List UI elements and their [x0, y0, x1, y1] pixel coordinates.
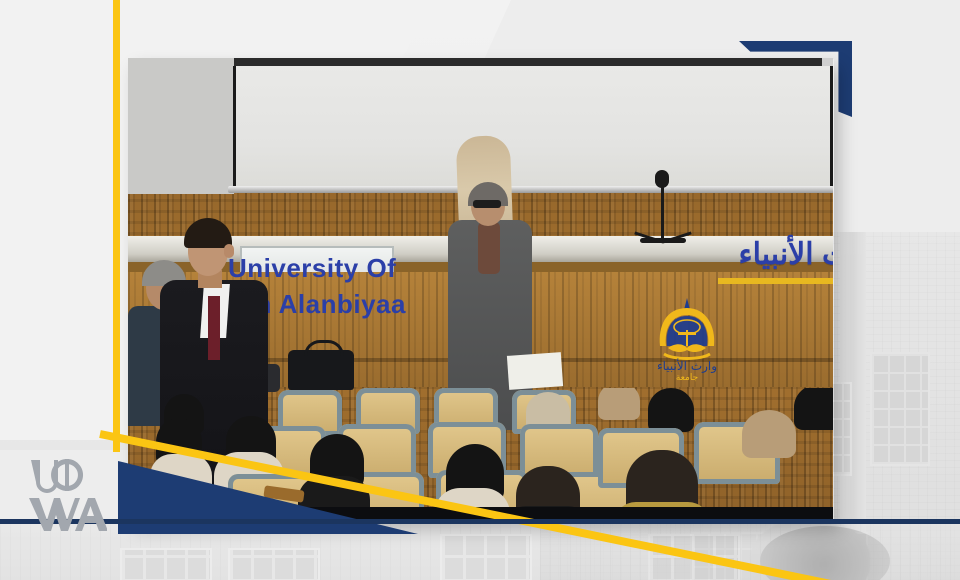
foreground-man-ear [224, 244, 234, 258]
university-emblem: وارث الأنبياء جامعة [654, 296, 720, 382]
briefcase [288, 350, 354, 390]
speaker-scarf [478, 222, 500, 274]
watermark-window [440, 534, 532, 580]
wall-sign-arabic-text: وارث الأنبياء [738, 238, 833, 271]
banner-canvas: University Of rith Alanbiyaa وارث الأنبي… [0, 0, 960, 580]
yellow-accent-vertical [113, 0, 120, 452]
projection-screen-bar [228, 186, 833, 193]
wall-sign-gold-underline [718, 278, 833, 284]
wall-sign-arabic: وارث الأنبياء [688, 226, 833, 290]
navy-bottom-rule [0, 519, 960, 524]
projection-screen [233, 66, 833, 191]
audience-person [598, 388, 640, 420]
audience-person [648, 388, 694, 432]
foreground-man-tie [208, 296, 220, 360]
speaker-glasses [473, 200, 501, 208]
watermark-window [870, 352, 930, 466]
speaker-papers [507, 352, 563, 390]
svg-text:جامعة: جامعة [676, 373, 698, 382]
svg-text:وارث الأنبياء: وارث الأنبياء [657, 358, 717, 374]
uowa-logo [27, 458, 107, 534]
microphone-stand [661, 178, 664, 242]
watermark-window [228, 548, 320, 580]
event-photo: University Of rith Alanbiyaa وارث الأنبي… [128, 58, 833, 521]
audience-person [794, 388, 833, 430]
wall-panel-left [128, 58, 234, 194]
audience-person [742, 410, 796, 458]
watermark-window [120, 548, 212, 580]
